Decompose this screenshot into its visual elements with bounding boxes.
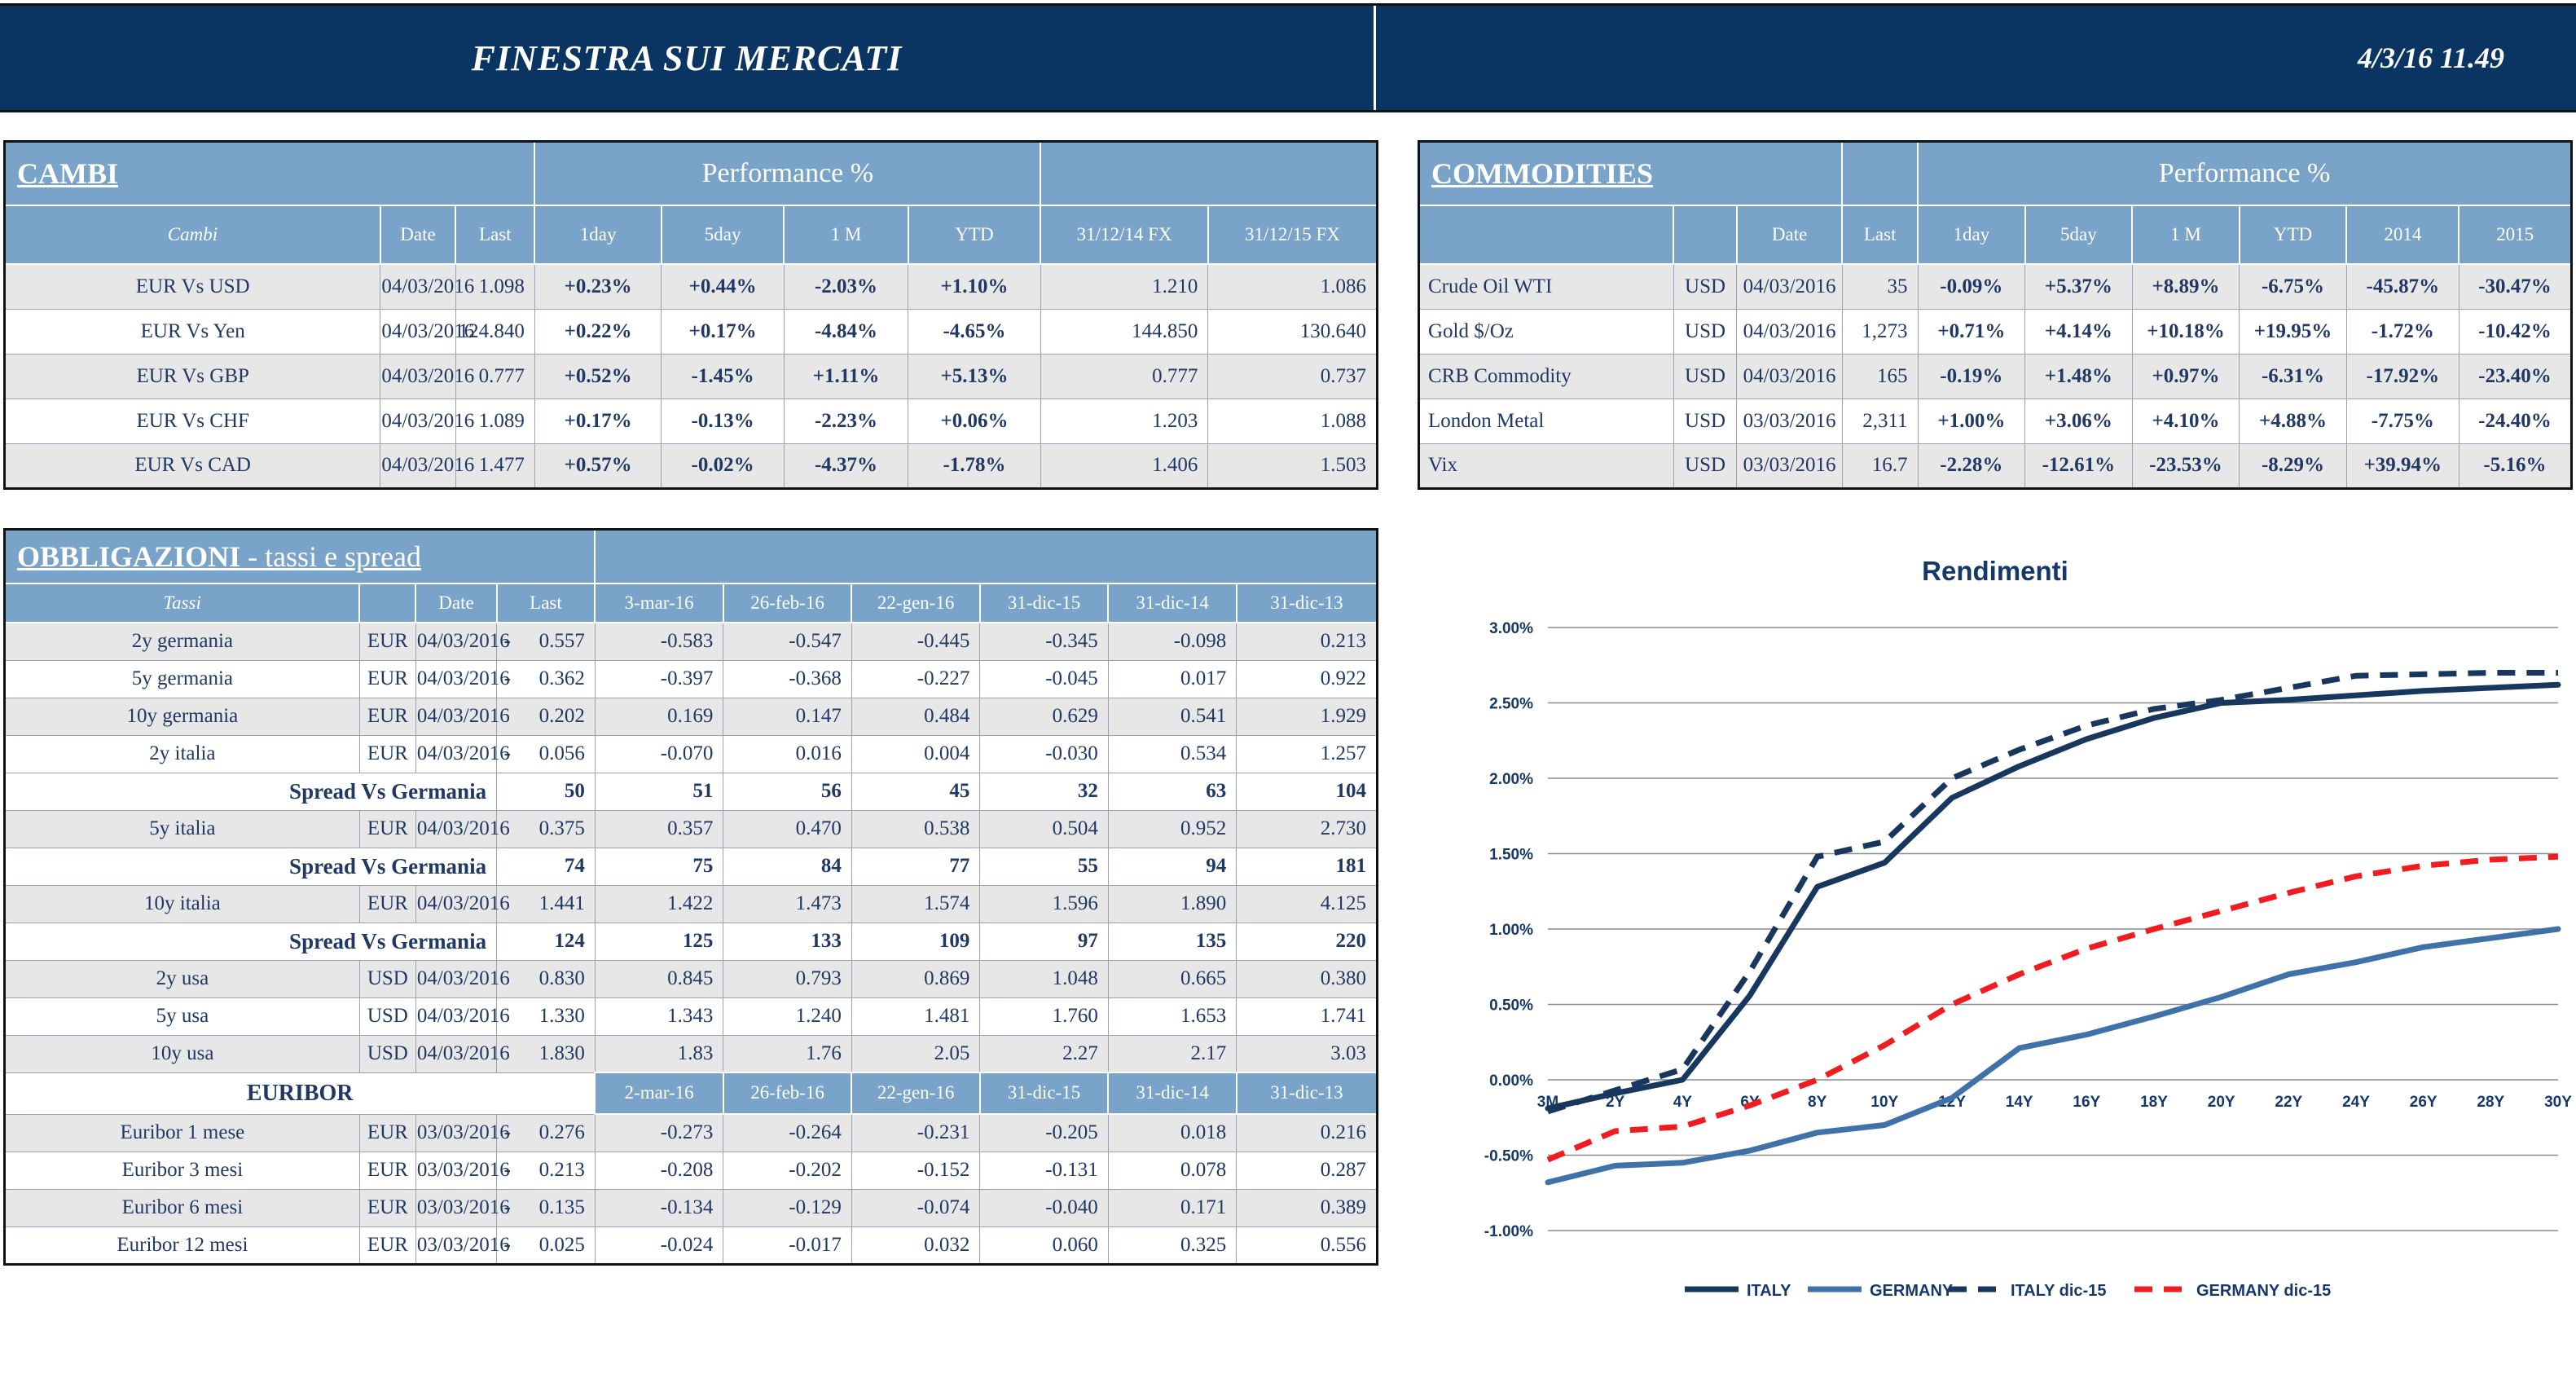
obbligazioni-row-ccy: USD: [359, 997, 415, 1035]
commodities-col-2015: 2015: [2459, 205, 2571, 264]
obbligazioni-row-date: 04/03/2016: [415, 735, 496, 773]
commodities-row-ytd: -8.29%: [2240, 443, 2347, 488]
obbligazioni-row-c3: 0.869: [851, 960, 979, 997]
obbligazioni-row-name: 2y germania: [5, 623, 360, 660]
obbligazioni-row-c2: -0.368: [723, 660, 851, 698]
obbligazioni-row-ccy: USD: [359, 960, 415, 997]
table-row[interactable]: Spread Vs Germania12412513310997135220: [5, 923, 1378, 960]
obbligazioni-row-c6: 1.929: [1237, 698, 1378, 735]
obbligazioni-row-c4: 1.596: [980, 885, 1108, 923]
cambi-panel: CAMBI Performance % Cambi Date Last 1day…: [3, 140, 1378, 490]
cambi-header-spacer: [1040, 142, 1377, 206]
commodities-row-date: 04/03/2016: [1737, 354, 1842, 399]
header-timestamp: 4/3/16 11.49: [1374, 6, 2576, 110]
euribor-col-c6: 31-dic-13: [1237, 1072, 1378, 1114]
obbligazioni-spread-c3: 109: [851, 923, 979, 960]
cambi-row-ytd: -4.65%: [908, 309, 1040, 354]
table-row[interactable]: 2y italiaEUR04/03/2016-0.056-0.0700.0160…: [5, 735, 1378, 773]
obbligazioni-row-c2: 1.240: [723, 997, 851, 1035]
page-title: FINESTRA SUI MERCATI: [0, 6, 1374, 110]
euribor-row-name: Euribor 12 mesi: [5, 1226, 360, 1264]
obbligazioni-row-last: 0.362: [517, 660, 595, 698]
obbligazioni-row-date: 04/03/2016: [415, 960, 496, 997]
obbligazioni-row-c1: 1.422: [595, 885, 723, 923]
cambi-row-name: EUR Vs CHF: [5, 399, 380, 443]
y-axis-label-7: -0.50%: [1484, 1148, 1533, 1165]
commodities-row-date: 03/03/2016: [1737, 443, 1842, 488]
cambi-row-date: 04/03/2016: [380, 309, 455, 354]
commodities-row-m1: +0.97%: [2132, 354, 2240, 399]
euribor-row-c3: -0.074: [851, 1189, 979, 1226]
obbligazioni-row-c4: 1.760: [980, 997, 1108, 1035]
cambi-table: CAMBI Performance % Cambi Date Last 1day…: [3, 140, 1378, 490]
obbligazioni-row-c5: 1.890: [1108, 885, 1236, 923]
obbligazioni-row-name: 10y germania: [5, 698, 360, 735]
cambi-row-d5: -0.02%: [662, 443, 784, 488]
obbligazioni-row-c1: 1.83: [595, 1035, 723, 1072]
obbligazioni-row-c1: 0.169: [595, 698, 723, 735]
commodities-row-y2015: -5.16%: [2459, 443, 2571, 488]
obbligazioni-header-spacer: [595, 530, 1377, 584]
x-axis-label-7: 14Y: [2006, 1094, 2033, 1111]
obbligazioni-row-c5: 0.952: [1108, 810, 1236, 848]
cambi-row-d1: +0.17%: [534, 399, 661, 443]
cambi-perf-group-header: Performance %: [534, 142, 1040, 206]
obbligazioni-col-last: Last: [497, 584, 596, 623]
table-row[interactable]: Spread Vs Germania747584775594181: [5, 848, 1378, 885]
obbligazioni-row-date: 04/03/2016: [415, 810, 496, 848]
x-axis-label-5: 10Y: [1870, 1094, 1898, 1111]
obbligazioni-spread-last: 124: [497, 923, 596, 960]
x-axis-label-12: 24Y: [2342, 1094, 2370, 1111]
commodities-col-ytd: YTD: [2240, 205, 2347, 264]
cambi-header-row: Cambi Date Last 1day 5day 1 M YTD 31/12/…: [5, 205, 1378, 264]
euribor-row-last: 0.135: [517, 1189, 595, 1226]
commodities-row-last: 16.7: [1842, 443, 1918, 488]
euribor-row-c2: -0.129: [723, 1189, 851, 1226]
y-axis-label-4: 1.00%: [1489, 922, 1533, 939]
commodities-col-2014: 2014: [2346, 205, 2459, 264]
cambi-col-fx15: 31/12/15 FX: [1208, 205, 1378, 264]
obbligazioni-col-c5: 31-dic-14: [1108, 584, 1236, 623]
commodities-header-spacer-left: [1842, 142, 1918, 206]
commodities-row-d1: -0.09%: [1918, 264, 2025, 309]
table-row[interactable]: Spread Vs Germania505156453263104: [5, 773, 1378, 810]
obbligazioni-row-last: 0.375: [517, 810, 595, 848]
euribor-row-c6: 0.556: [1237, 1226, 1378, 1264]
cambi-section-title: CAMBI: [5, 142, 535, 206]
commodities-row-ytd: +19.95%: [2240, 309, 2347, 354]
cambi-row-d1: +0.52%: [534, 354, 661, 399]
euribor-row-c4: 0.060: [980, 1226, 1108, 1264]
commodities-row-y2014: -7.75%: [2346, 399, 2459, 443]
euribor-row-c4: -0.131: [980, 1152, 1108, 1189]
y-axis-label-8: -1.00%: [1484, 1223, 1533, 1240]
obbligazioni-row-c6: 0.213: [1237, 623, 1378, 660]
obbligazioni-row-date: 04/03/2016: [415, 623, 496, 660]
commodities-row-ccy: USD: [1673, 443, 1737, 488]
commodities-row-d1: +1.00%: [1918, 399, 2025, 443]
euribor-row-date: 03/03/2016: [415, 1114, 496, 1152]
rendimenti-chart-panel: Rendimenti 3.00%2.50%2.00%1.50%1.00%0.50…: [1418, 538, 2573, 1337]
euribor-col-c5: 31-dic-14: [1108, 1072, 1236, 1114]
cambi-row-name: EUR Vs CAD: [5, 443, 380, 488]
table-row[interactable]: 10y italiaEUR04/03/20161.4411.4221.4731.…: [5, 885, 1378, 923]
obbligazioni-row-c2: -0.547: [723, 623, 851, 660]
commodities-panel: COMMODITIES Performance % Date Last 1day…: [1418, 140, 2573, 490]
obbligazioni-row-c4: 1.048: [980, 960, 1108, 997]
obbligazioni-row-ccy: EUR: [359, 735, 415, 773]
obbligazioni-spread-c6: 220: [1237, 923, 1378, 960]
obbligazioni-header-row: Tassi Date Last 3-mar-16 26-feb-16 22-ge…: [5, 584, 1378, 623]
euribor-row-date: 03/03/2016: [415, 1226, 496, 1264]
obbligazioni-row-ccy: USD: [359, 1035, 415, 1072]
euribor-row-name: Euribor 1 mese: [5, 1114, 360, 1152]
obbligazioni-row-c2: 0.147: [723, 698, 851, 735]
euribor-row-c1: -0.208: [595, 1152, 723, 1189]
commodities-row-m1: +10.18%: [2132, 309, 2240, 354]
euribor-section-title: EURIBOR: [5, 1072, 596, 1114]
obbligazioni-spread-c1: 125: [595, 923, 723, 960]
commodities-row-ccy: USD: [1673, 264, 1737, 309]
cambi-row-fx15: 1.503: [1208, 443, 1378, 488]
obbligazioni-col-c6: 31-dic-13: [1237, 584, 1378, 623]
series-line-germany-dic-15: [1548, 857, 2558, 1160]
table-row[interactable]: Euribor 3 mesiEUR03/03/2016-0.213-0.208-…: [5, 1152, 1378, 1189]
obbligazioni-spread-c4: 55: [980, 848, 1108, 885]
cambi-row-name: EUR Vs GBP: [5, 354, 380, 399]
table-row[interactable]: CRB CommodityUSD04/03/2016165-0.19%+1.48…: [1419, 354, 2572, 399]
commodities-row-ccy: USD: [1673, 399, 1737, 443]
commodities-col-ccy: [1673, 205, 1737, 264]
chart-title: Rendimenti: [1418, 556, 2573, 587]
commodities-row-ccy: USD: [1673, 354, 1737, 399]
commodities-row-d5: -12.61%: [2025, 443, 2133, 488]
obbligazioni-row-c2: 1.76: [723, 1035, 851, 1072]
cambi-row-date: 04/03/2016: [380, 264, 455, 309]
obbligazioni-row-date: 04/03/2016: [415, 1035, 496, 1072]
commodities-perf-group-header: Performance %: [1918, 142, 2571, 206]
obbligazioni-col-c4: 31-dic-15: [980, 584, 1108, 623]
euribor-row-date: 03/03/2016: [415, 1152, 496, 1189]
obbligazioni-spread-c3: 45: [851, 773, 979, 810]
cambi-row-fx15: 130.640: [1208, 309, 1378, 354]
obbligazioni-spread-label: Spread Vs Germania: [5, 848, 497, 885]
obbligazioni-row-name: 10y usa: [5, 1035, 360, 1072]
euribor-row-c3: -0.231: [851, 1114, 979, 1152]
obbligazioni-spread-c5: 135: [1108, 923, 1236, 960]
euribor-row-c2: -0.202: [723, 1152, 851, 1189]
euribor-row-c3: -0.152: [851, 1152, 979, 1189]
table-row[interactable]: Euribor 6 mesiEUR03/03/2016-0.135-0.134-…: [5, 1189, 1378, 1226]
obbligazioni-section-title: OBBLIGAZIONI - tassi e spread: [5, 530, 596, 584]
obbligazioni-spread-c2: 56: [723, 773, 851, 810]
obbligazioni-row-c6: 1.741: [1237, 997, 1378, 1035]
x-axis-label-15: 30Y: [2544, 1094, 2572, 1111]
obbligazioni-spread-c4: 97: [980, 923, 1108, 960]
cambi-row-date: 04/03/2016: [380, 399, 455, 443]
obbligazioni-spread-c2: 84: [723, 848, 851, 885]
euribor-row-ccy: EUR: [359, 1189, 415, 1226]
obbligazioni-row-name: 2y usa: [5, 960, 360, 997]
obbligazioni-row-date: 04/03/2016: [415, 997, 496, 1035]
cambi-title-row: CAMBI Performance %: [5, 142, 1378, 206]
table-row[interactable]: EUR Vs CAD04/03/20161.477+0.57%-0.02%-4.…: [5, 443, 1378, 488]
obbligazioni-spread-c4: 32: [980, 773, 1108, 810]
commodities-row-date: 04/03/2016: [1737, 264, 1842, 309]
x-axis-label-4: 8Y: [1808, 1094, 1827, 1111]
commodities-row-y2014: +39.94%: [2346, 443, 2459, 488]
table-row[interactable]: 10y usaUSD04/03/20161.8301.831.762.052.2…: [5, 1035, 1378, 1072]
obbligazioni-table: OBBLIGAZIONI - tassi e spread Tassi Date…: [3, 528, 1378, 1266]
euribor-row-c1: -0.024: [595, 1226, 723, 1264]
euribor-row-ccy: EUR: [359, 1114, 415, 1152]
table-row[interactable]: 10y germaniaEUR04/03/20160.2020.1690.147…: [5, 698, 1378, 735]
obbligazioni-spread-last: 74: [497, 848, 596, 885]
euribor-col-c4: 31-dic-15: [980, 1072, 1108, 1114]
obbligazioni-row-c6: 0.922: [1237, 660, 1378, 698]
y-axis-label-2: 2.00%: [1489, 771, 1533, 788]
euribor-row-ccy: EUR: [359, 1152, 415, 1189]
obbligazioni-row-ccy: EUR: [359, 660, 415, 698]
euribor-col-c2: 26-feb-16: [723, 1072, 851, 1114]
cambi-row-d1: +0.22%: [534, 309, 661, 354]
commodities-row-d1: +0.71%: [1918, 309, 2025, 354]
y-axis-label-6: 0.00%: [1489, 1072, 1533, 1090]
table-row[interactable]: 2y germaniaEUR04/03/2016-0.557-0.583-0.5…: [5, 623, 1378, 660]
euribor-row-name: Euribor 6 mesi: [5, 1189, 360, 1226]
commodities-row-d5: +4.14%: [2025, 309, 2133, 354]
obbligazioni-col-date: Date: [415, 584, 496, 623]
legend-label-germany-dic-15: GERMANY dic-15: [2196, 1282, 2331, 1300]
obbligazioni-row-c3: 0.484: [851, 698, 979, 735]
commodities-row-d5: +5.37%: [2025, 264, 2133, 309]
commodities-row-m1: +8.89%: [2132, 264, 2240, 309]
cambi-row-fx14: 1.210: [1040, 264, 1208, 309]
cambi-row-m1: -4.37%: [784, 443, 908, 488]
cambi-row-m1: +1.11%: [784, 354, 908, 399]
commodities-table: COMMODITIES Performance % Date Last 1day…: [1418, 140, 2573, 490]
obbligazioni-title-row: OBBLIGAZIONI - tassi e spread: [5, 530, 1378, 584]
table-row[interactable]: EUR Vs CHF04/03/20161.089+0.17%-0.13%-2.…: [5, 399, 1378, 443]
obbligazioni-row-c3: -0.227: [851, 660, 979, 698]
cambi-row-fx14: 144.850: [1040, 309, 1208, 354]
obbligazioni-row-name: 5y italia: [5, 810, 360, 848]
table-row[interactable]: 5y germaniaEUR04/03/2016-0.362-0.397-0.3…: [5, 660, 1378, 698]
obbligazioni-row-last: 0.056: [517, 735, 595, 773]
euribor-col-c3: 22-gen-16: [851, 1072, 979, 1114]
euribor-row-c3: 0.032: [851, 1226, 979, 1264]
euribor-row-c1: -0.273: [595, 1114, 723, 1152]
commodities-row-y2014: -1.72%: [2346, 309, 2459, 354]
euribor-row-last: 0.025: [517, 1226, 595, 1264]
obbligazioni-col-ccy: [359, 584, 415, 623]
obbligazioni-row-c6: 3.03: [1237, 1035, 1378, 1072]
obbligazioni-spread-c5: 94: [1108, 848, 1236, 885]
table-row[interactable]: 2y usaUSD04/03/20160.8300.8450.7930.8691…: [5, 960, 1378, 997]
obbligazioni-spread-c1: 75: [595, 848, 723, 885]
obbligazioni-col-c1: 3-mar-16: [595, 584, 723, 623]
obbligazioni-spread-c6: 181: [1237, 848, 1378, 885]
cambi-row-ytd: +1.10%: [908, 264, 1040, 309]
table-row[interactable]: Gold $/OzUSD04/03/20161,273+0.71%+4.14%+…: [1419, 309, 2572, 354]
table-row[interactable]: EUR Vs GBP04/03/20160.777+0.52%-1.45%+1.…: [5, 354, 1378, 399]
x-axis-label-10: 20Y: [2208, 1094, 2235, 1111]
obbligazioni-row-c5: -0.098: [1108, 623, 1236, 660]
commodities-row-m1: -23.53%: [2132, 443, 2240, 488]
obbligazioni-spread-c5: 63: [1108, 773, 1236, 810]
euribor-row-c4: -0.040: [980, 1189, 1108, 1226]
obbligazioni-col-tassi: Tassi: [5, 584, 360, 623]
cambi-col-fx14: 31/12/14 FX: [1040, 205, 1208, 264]
cambi-row-d1: +0.23%: [534, 264, 661, 309]
commodities-row-name: Vix: [1419, 443, 1674, 488]
euribor-row-ccy: EUR: [359, 1226, 415, 1264]
cambi-row-ytd: +0.06%: [908, 399, 1040, 443]
table-row[interactable]: EUR Vs USD04/03/20161.098+0.23%+0.44%-2.…: [5, 264, 1378, 309]
euribor-row-c6: 0.287: [1237, 1152, 1378, 1189]
obbligazioni-col-c3: 22-gen-16: [851, 584, 979, 623]
commodities-row-y2015: -23.40%: [2459, 354, 2571, 399]
rendimenti-chart: 3.00%2.50%2.00%1.50%1.00%0.50%0.00%-0.50…: [1418, 587, 2573, 1320]
obbligazioni-row-ccy: EUR: [359, 698, 415, 735]
x-axis-label-8: 16Y: [2073, 1094, 2100, 1111]
obbligazioni-row-last: 1.330: [517, 997, 595, 1035]
cambi-row-d5: -1.45%: [662, 354, 784, 399]
table-row[interactable]: Euribor 1 meseEUR03/03/2016-0.276-0.273-…: [5, 1114, 1378, 1152]
obbligazioni-row-c5: 1.653: [1108, 997, 1236, 1035]
obbligazioni-row-c4: 2.27: [980, 1035, 1108, 1072]
obbligazioni-spread-label: Spread Vs Germania: [5, 773, 497, 810]
euribor-row-c1: -0.134: [595, 1189, 723, 1226]
cambi-col-1day: 1day: [534, 205, 661, 264]
commodities-row-name: CRB Commodity: [1419, 354, 1674, 399]
table-row[interactable]: London MetalUSD03/03/20162,311+1.00%+3.0…: [1419, 399, 2572, 443]
cambi-row-fx15: 0.737: [1208, 354, 1378, 399]
cambi-row-d5: +0.17%: [662, 309, 784, 354]
cambi-row-name: EUR Vs USD: [5, 264, 380, 309]
table-row[interactable]: 5y usaUSD04/03/20161.3301.3431.2401.4811…: [5, 997, 1378, 1035]
commodities-row-last: 165: [1842, 354, 1918, 399]
app-header: FINESTRA SUI MERCATI 4/3/16 11.49: [0, 3, 2576, 112]
commodities-row-y2014: -45.87%: [2346, 264, 2459, 309]
obbligazioni-row-c1: 0.845: [595, 960, 723, 997]
euribor-row-c5: 0.018: [1108, 1114, 1236, 1152]
commodities-title-row: COMMODITIES Performance %: [1419, 142, 2572, 206]
cambi-row-m1: -2.23%: [784, 399, 908, 443]
y-axis-label-5: 0.50%: [1489, 997, 1533, 1015]
euribor-row-c4: -0.205: [980, 1114, 1108, 1152]
table-row[interactable]: 5y italiaEUR04/03/20160.3750.3570.4700.5…: [5, 810, 1378, 848]
obbligazioni-row-c2: 0.793: [723, 960, 851, 997]
commodities-row-y2015: -30.47%: [2459, 264, 2571, 309]
obbligazioni-spread-c6: 104: [1237, 773, 1378, 810]
commodities-row-date: 04/03/2016: [1737, 309, 1842, 354]
table-row[interactable]: Euribor 12 mesiEUR03/03/2016-0.025-0.024…: [5, 1226, 1378, 1264]
obbligazioni-row-ccy: EUR: [359, 810, 415, 848]
x-axis-label-2: 4Y: [1673, 1094, 1693, 1111]
obbligazioni-row-name: 5y germania: [5, 660, 360, 698]
obbligazioni-row-c5: 0.541: [1108, 698, 1236, 735]
obbligazioni-row-c1: -0.583: [595, 623, 723, 660]
table-row[interactable]: VixUSD03/03/201616.7-2.28%-12.61%-23.53%…: [1419, 443, 2572, 488]
obbligazioni-row-c4: -0.030: [980, 735, 1108, 773]
commodities-row-ytd: -6.31%: [2240, 354, 2347, 399]
obbligazioni-row-c1: 1.343: [595, 997, 723, 1035]
commodities-row-y2015: -24.40%: [2459, 399, 2571, 443]
cambi-col-date: Date: [380, 205, 455, 264]
obbligazioni-spread-c1: 51: [595, 773, 723, 810]
commodities-row-d5: +3.06%: [2025, 399, 2133, 443]
obbligazioni-col-c2: 26-feb-16: [723, 584, 851, 623]
series-line-italy: [1548, 685, 2558, 1108]
commodities-col-last: Last: [1842, 205, 1918, 264]
commodities-col-1day: 1day: [1918, 205, 2025, 264]
table-row[interactable]: EUR Vs Yen04/03/2016124.840+0.22%+0.17%-…: [5, 309, 1378, 354]
table-row[interactable]: Crude Oil WTIUSD04/03/201635-0.09%+5.37%…: [1419, 264, 2572, 309]
x-axis-label-14: 28Y: [2477, 1094, 2504, 1111]
commodities-row-d1: -0.19%: [1918, 354, 2025, 399]
euribor-title-row: EURIBOR 2-mar-16 26-feb-16 22-gen-16 31-…: [5, 1072, 1378, 1114]
commodities-row-name: London Metal: [1419, 399, 1674, 443]
commodities-row-last: 1,273: [1842, 309, 1918, 354]
legend-label-germany: GERMANY: [1870, 1282, 1954, 1300]
cambi-row-fx14: 0.777: [1040, 354, 1208, 399]
obbligazioni-row-date: 04/03/2016: [415, 660, 496, 698]
cambi-row-last: 124.840: [455, 309, 534, 354]
obbligazioni-row-c5: 0.534: [1108, 735, 1236, 773]
legend-label-italy: ITALY: [1747, 1282, 1791, 1300]
cambi-row-d5: -0.13%: [662, 399, 784, 443]
obbligazioni-row-c2: 0.470: [723, 810, 851, 848]
commodities-row-last: 2,311: [1842, 399, 1918, 443]
cambi-row-date: 04/03/2016: [380, 354, 455, 399]
obbligazioni-row-date: 04/03/2016: [415, 885, 496, 923]
obbligazioni-row-ccy: EUR: [359, 623, 415, 660]
obbligazioni-row-last: 1.830: [517, 1035, 595, 1072]
cambi-row-d5: +0.44%: [662, 264, 784, 309]
obbligazioni-row-c6: 2.730: [1237, 810, 1378, 848]
commodities-row-date: 03/03/2016: [1737, 399, 1842, 443]
obbligazioni-row-name: 10y italia: [5, 885, 360, 923]
cambi-col-name: Cambi: [5, 205, 380, 264]
euribor-row-c5: 0.171: [1108, 1189, 1236, 1226]
cambi-col-ytd: YTD: [908, 205, 1040, 264]
obbligazioni-row-c5: 2.17: [1108, 1035, 1236, 1072]
obbligazioni-row-date: 04/03/2016: [415, 698, 496, 735]
cambi-row-d1: +0.57%: [534, 443, 661, 488]
commodities-col-5day: 5day: [2025, 205, 2133, 264]
obbligazioni-row-c4: -0.045: [980, 660, 1108, 698]
obbligazioni-row-c4: 0.629: [980, 698, 1108, 735]
cambi-row-name: EUR Vs Yen: [5, 309, 380, 354]
obbligazioni-row-c1: -0.070: [595, 735, 723, 773]
commodities-row-d1: -2.28%: [1918, 443, 2025, 488]
obbligazioni-row-c6: 4.125: [1237, 885, 1378, 923]
series-line-italy-dic-15: [1548, 673, 2558, 1112]
commodities-row-ccy: USD: [1673, 309, 1737, 354]
obbligazioni-panel: OBBLIGAZIONI - tassi e spread Tassi Date…: [3, 528, 1378, 1266]
obbligazioni-row-c3: -0.445: [851, 623, 979, 660]
euribor-row-last: 0.276: [517, 1114, 595, 1152]
commodities-row-name: Gold $/Oz: [1419, 309, 1674, 354]
commodities-row-y2015: -10.42%: [2459, 309, 2571, 354]
euribor-row-last: 0.213: [517, 1152, 595, 1189]
y-axis-label-3: 1.50%: [1489, 847, 1533, 864]
cambi-col-last: Last: [455, 205, 534, 264]
commodities-row-m1: +4.10%: [2132, 399, 2240, 443]
x-axis-label-9: 18Y: [2140, 1094, 2168, 1111]
